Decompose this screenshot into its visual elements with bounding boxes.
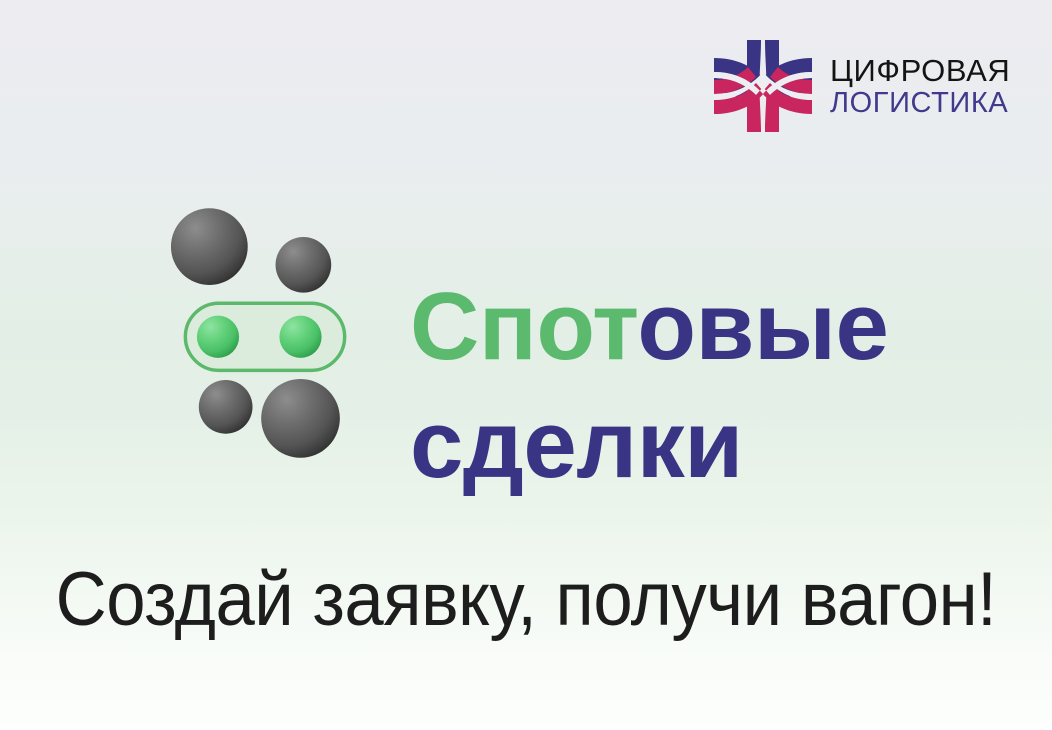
gray-sphere-bottom-right [261, 379, 340, 458]
digital-logistics-rail-mark-icon [714, 40, 812, 132]
spot-deal-wagon-icon [170, 192, 360, 472]
headline-line-2: сделки [410, 386, 1010, 504]
page-title: Спотовые сделки [410, 268, 1010, 504]
headline-line-1-rest: овые [637, 273, 888, 380]
gray-sphere-bottom-left [199, 380, 253, 434]
headline-line-1: Спотовые [410, 268, 1010, 386]
green-sphere-right [279, 316, 321, 358]
green-sphere-left [197, 316, 239, 358]
brand-name-line-1: ЦИФРОВАЯ [830, 55, 1010, 87]
brand-name-line-2: ЛОГИСТИКА [830, 88, 1010, 119]
gray-sphere-top-right [276, 237, 332, 293]
brand-logo[interactable]: ЦИФРОВАЯ ЛОГИСТИКА [714, 40, 1010, 132]
headline-accent-word: Спот [410, 273, 637, 380]
gray-sphere-top-left [171, 208, 248, 285]
poster-canvas: ЦИФРОВАЯ ЛОГИСТИКА [0, 0, 1052, 730]
tagline: Создай заявку, получи вагон! [37, 556, 1015, 644]
brand-wordmark: ЦИФРОВАЯ ЛОГИСТИКА [830, 53, 1010, 120]
